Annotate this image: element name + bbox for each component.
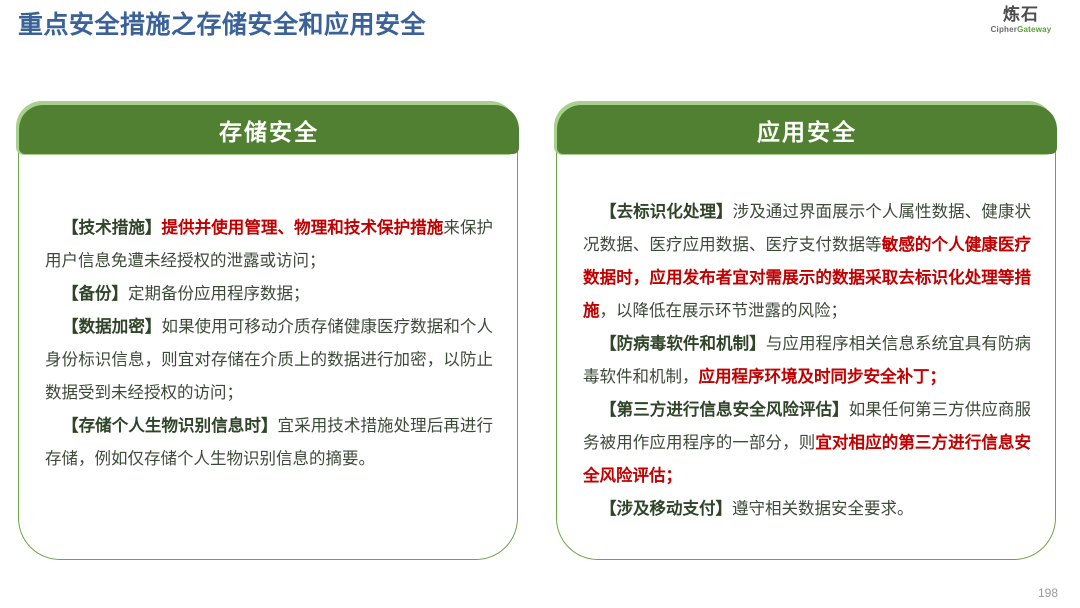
text-run-label: 【数据加密】 (62, 318, 161, 336)
text-run-highlight: 提供并使用管理、物理和技术保护措施 (161, 219, 443, 237)
paragraph-mobile-payment: 【涉及移动支付】遵守相关数据安全要求。 (583, 493, 1031, 526)
card-header-application-security: 应用安全 (557, 105, 1057, 154)
text-run-label: 【第三方进行信息安全风险评估】 (600, 401, 849, 419)
logo-chinese-text: 炼石 (978, 6, 1064, 23)
paragraph-de-identification: 【去标识化处理】涉及通过界面展示个人属性数据、健康状况数据、医疗应用数据、医疗支… (583, 196, 1031, 328)
card-application-security: 应用安全 【去标识化处理】涉及通过界面展示个人属性数据、健康状况数据、医疗应用数… (556, 104, 1056, 560)
text-run-label: 【技术措施】 (62, 219, 161, 237)
text-run-label: 【备份】 (62, 285, 128, 303)
logo-gateway-text: Gateway (1017, 25, 1051, 34)
text-run-normal: 定期备份应用程序数据； (128, 285, 310, 303)
logo-cipher-text: Cipher (991, 25, 1018, 34)
text-run-normal: ，以降低在展示环节泄露的风险； (600, 302, 848, 320)
text-run-label: 【涉及移动支付】 (600, 500, 732, 518)
text-run-label: 【去标识化处理】 (600, 203, 733, 221)
paragraph-third-party-risk: 【第三方进行信息安全风险评估】如果任何第三方供应商服务被用作应用程序的一部分，则… (583, 394, 1031, 493)
card-body-storage-security: 【技术措施】提供并使用管理、物理和技术保护措施来保护用户信息免遭未经授权的泄露或… (19, 154, 519, 561)
text-run-label: 【存储个人生物识别信息时】 (62, 417, 278, 435)
brand-logo: 炼石 CipherGateway (978, 6, 1064, 34)
page-number: 198 (1038, 586, 1058, 600)
card-body-application-security: 【去标识化处理】涉及通过界面展示个人属性数据、健康状况数据、医疗应用数据、医疗支… (557, 154, 1057, 561)
paragraph-tech-measures: 【技术措施】提供并使用管理、物理和技术保护措施来保护用户信息免遭未经授权的泄露或… (45, 212, 493, 278)
paragraph-data-encryption: 【数据加密】如果使用可移动介质存储健康医疗数据和个人身份标识信息，则宜对存储在介… (45, 311, 493, 410)
paragraph-backup: 【备份】定期备份应用程序数据； (45, 278, 493, 311)
paragraph-antivirus: 【防病毒软件和机制】与应用程序相关信息系统宜具有防病毒软件和机制，应用程序环境及… (583, 328, 1031, 394)
logo-english-text: CipherGateway (978, 26, 1064, 34)
text-run-highlight: 应用程序环境及时同步安全补丁； (699, 368, 947, 386)
text-run-normal: 遵守相关数据安全要求。 (732, 500, 914, 518)
card-storage-security: 存储安全 【技术措施】提供并使用管理、物理和技术保护措施来保护用户信息免遭未经授… (18, 104, 518, 560)
card-header-storage-security: 存储安全 (19, 105, 519, 154)
text-run-label: 【防病毒软件和机制】 (600, 335, 766, 353)
paragraph-biometric-storage: 【存储个人生物识别信息时】宜采用技术措施处理后再进行存储，例如仅存储个人生物识别… (45, 410, 493, 476)
page-title: 重点安全措施之存储安全和应用安全 (18, 5, 426, 41)
